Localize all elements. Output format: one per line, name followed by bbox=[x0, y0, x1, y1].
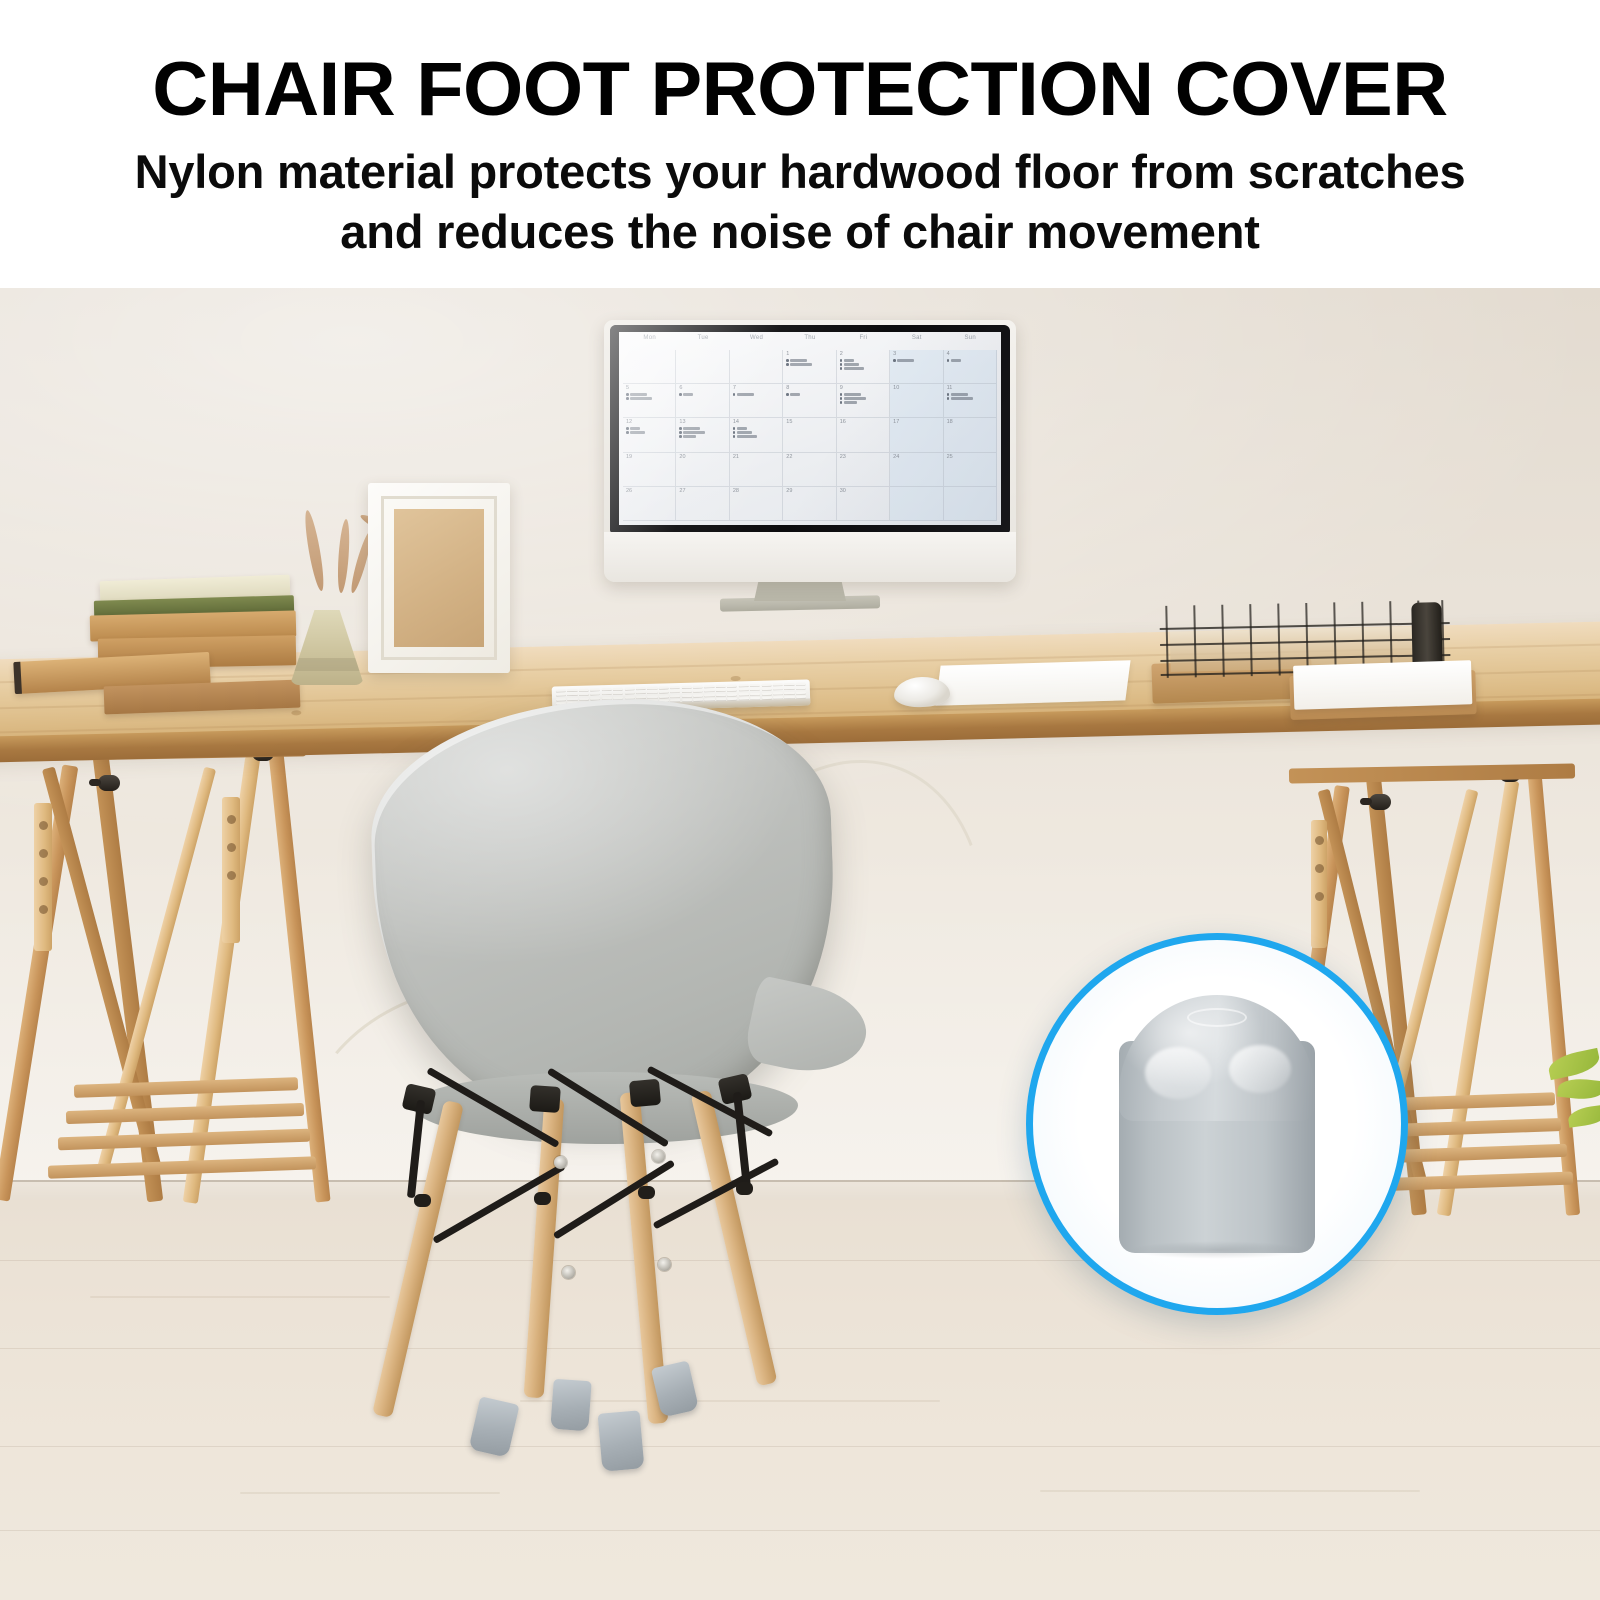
calendar-cell: 4 bbox=[944, 350, 997, 384]
monitor-chin bbox=[604, 532, 1016, 582]
trestle-left bbox=[0, 715, 330, 1235]
calendar-date-number: 11 bbox=[947, 386, 994, 392]
molding-mark bbox=[1187, 1008, 1247, 1027]
calendar-cell: 7 bbox=[730, 384, 783, 418]
calendar-date-number: 14 bbox=[733, 420, 780, 426]
calendar-cell: 28 bbox=[730, 487, 783, 521]
calendar-date-number: 21 bbox=[733, 455, 780, 461]
calendar-cell: 25 bbox=[944, 453, 997, 487]
calendar-day-header: Wed bbox=[730, 335, 783, 350]
calendar-date-number: 8 bbox=[786, 386, 833, 392]
calendar-event bbox=[840, 359, 887, 362]
height-adjust-knob bbox=[1369, 794, 1391, 810]
calendar-cell: 2 bbox=[837, 350, 890, 384]
keyboard-key bbox=[784, 683, 794, 686]
keyboard-key bbox=[556, 689, 566, 692]
keyboard-key bbox=[750, 684, 760, 687]
keyboard-key bbox=[795, 683, 805, 686]
calendar-event bbox=[840, 401, 887, 404]
calendar-event bbox=[626, 393, 673, 396]
calendar-cell: 3 bbox=[890, 350, 943, 384]
calendar-event bbox=[840, 367, 887, 370]
keyboard-key bbox=[796, 691, 806, 694]
keyboard-key bbox=[704, 689, 714, 692]
calendar-cell: 11 bbox=[944, 384, 997, 418]
calendar-event bbox=[786, 359, 833, 362]
keyboard-key bbox=[647, 687, 657, 690]
keyboard-key bbox=[659, 695, 669, 698]
calendar-date-number: 3 bbox=[893, 352, 940, 358]
leg-screw bbox=[658, 1258, 671, 1271]
monitor-screen: MonTueWedThuFriSatSun 123456789101112131… bbox=[619, 332, 1001, 525]
keyboard-key bbox=[761, 688, 771, 691]
calendar-day-header: Fri bbox=[837, 335, 890, 350]
keyboard-key bbox=[681, 686, 691, 689]
keyboard-key bbox=[590, 688, 600, 691]
keyboard-key bbox=[647, 695, 657, 698]
calendar-date-number: 20 bbox=[679, 455, 726, 461]
product-closeup-inset bbox=[1026, 933, 1408, 1315]
calendar-cell: 5 bbox=[623, 384, 676, 418]
keyboard-key bbox=[624, 692, 634, 695]
calendar-event bbox=[840, 393, 887, 396]
keyboard-key bbox=[579, 693, 589, 696]
calendar-event bbox=[679, 427, 726, 430]
product-marketing-image: CHAIR FOOT PROTECTION COVER Nylon materi… bbox=[0, 0, 1600, 1600]
calendar-cell: 14 bbox=[730, 418, 783, 452]
calendar-cell: 23 bbox=[837, 453, 890, 487]
keyboard-key bbox=[567, 693, 577, 696]
calendar-cell: 17 bbox=[890, 418, 943, 452]
calendar-event bbox=[733, 393, 780, 396]
keyboard-key bbox=[716, 689, 726, 692]
keyboard-key bbox=[693, 694, 703, 697]
keyboard-key bbox=[739, 693, 749, 696]
keyboard-key bbox=[556, 694, 566, 697]
keyboard-key bbox=[601, 688, 611, 691]
calendar-cell: 12 bbox=[623, 418, 676, 452]
height-adjust-knob bbox=[98, 775, 120, 791]
keyboard-key bbox=[784, 691, 794, 694]
keyboard-key bbox=[761, 683, 771, 686]
pens bbox=[1411, 602, 1442, 669]
keyboard-key bbox=[738, 684, 748, 687]
calendar-cell: 19 bbox=[623, 453, 676, 487]
calendar-event bbox=[786, 363, 833, 366]
calendar-cell: 15 bbox=[783, 418, 836, 452]
calendar-event bbox=[786, 393, 833, 396]
calendar-cell: 6 bbox=[676, 384, 729, 418]
calendar-date-number: 16 bbox=[840, 420, 887, 426]
keyboard-key bbox=[704, 685, 714, 688]
calendar-cell: 8 bbox=[783, 384, 836, 418]
chair-foot-cap bbox=[598, 1410, 645, 1471]
calendar-event bbox=[840, 363, 887, 366]
keyboard-key bbox=[658, 686, 668, 689]
keyboard-key bbox=[693, 690, 703, 693]
calendar-cell: 26 bbox=[623, 487, 676, 521]
calendar-day-header: Thu bbox=[783, 335, 836, 350]
calendar-event bbox=[733, 431, 780, 434]
page-title: CHAIR FOOT PROTECTION COVER bbox=[0, 46, 1600, 133]
keyboard-key bbox=[716, 693, 726, 696]
keyboard-key bbox=[682, 694, 692, 697]
calendar-event bbox=[893, 359, 940, 362]
keyboard-key bbox=[773, 692, 783, 695]
base-wire bbox=[407, 1100, 425, 1198]
calendar-cell bbox=[944, 487, 997, 521]
calendar-cell bbox=[623, 350, 676, 384]
keyboard-key bbox=[636, 691, 646, 694]
keyboard-key bbox=[670, 686, 680, 689]
monitor-bezel: MonTueWedThuFriSatSun 123456789101112131… bbox=[610, 325, 1010, 533]
calendar-cell: 21 bbox=[730, 453, 783, 487]
keyboard-key bbox=[670, 690, 680, 693]
computer-monitor: MonTueWedThuFriSatSun 123456789101112131… bbox=[604, 320, 1016, 582]
calendar-day-header: Mon bbox=[623, 335, 676, 350]
calendar-cell: 18 bbox=[944, 418, 997, 452]
keyboard-key bbox=[613, 688, 623, 691]
calendar-cell: 13 bbox=[676, 418, 729, 452]
calendar-date-number: 26 bbox=[626, 489, 673, 495]
keyboard-key bbox=[693, 685, 703, 688]
keyboard-key bbox=[716, 685, 726, 688]
calendar-event bbox=[947, 393, 994, 396]
picture-frame bbox=[368, 483, 510, 673]
calendar-cell bbox=[676, 350, 729, 384]
chair-foot-cap bbox=[468, 1396, 519, 1458]
calendar-date-number: 15 bbox=[786, 420, 833, 426]
chair-foot-cap bbox=[550, 1379, 591, 1432]
calendar-date-number: 12 bbox=[626, 420, 673, 426]
calendar-event bbox=[733, 435, 780, 438]
calendar-date-number: 7 bbox=[733, 386, 780, 392]
plant bbox=[1514, 1045, 1600, 1165]
calendar-day-headers: MonTueWedThuFriSatSun bbox=[623, 335, 997, 350]
lifestyle-photo: MonTueWedThuFriSatSun 123456789101112131… bbox=[0, 285, 1600, 1600]
product-cap bbox=[1119, 995, 1315, 1253]
leg-screw bbox=[652, 1150, 665, 1163]
keyboard-key bbox=[590, 693, 600, 696]
calendar-date-number: 6 bbox=[679, 386, 726, 392]
keyboard-key bbox=[727, 689, 737, 692]
calendar-date-number: 23 bbox=[840, 455, 887, 461]
keyboard-key bbox=[636, 687, 646, 690]
calendar-cell: 9 bbox=[837, 384, 890, 418]
calendar-date-number: 1 bbox=[786, 352, 833, 358]
keyboard-key bbox=[624, 687, 634, 690]
keyboard-key bbox=[784, 687, 794, 690]
calendar-date-number: 29 bbox=[786, 489, 833, 495]
chair-armrest-wing bbox=[742, 975, 873, 1083]
calendar-date-number: 28 bbox=[733, 489, 780, 495]
calendar-date-number: 25 bbox=[947, 455, 994, 461]
calendar-date-number: 24 bbox=[893, 455, 940, 461]
keyboard-key bbox=[750, 688, 760, 691]
calendar-date-number: 5 bbox=[626, 386, 673, 392]
keyboard-key bbox=[613, 692, 623, 695]
paper-sheet bbox=[935, 660, 1130, 705]
calendar-date-number: 13 bbox=[679, 420, 726, 426]
keyboard-key bbox=[567, 689, 577, 692]
calendar-event bbox=[679, 435, 726, 438]
calendar-event bbox=[626, 397, 673, 400]
calendar-date-number: 2 bbox=[840, 352, 887, 358]
keyboard-key bbox=[647, 691, 657, 694]
calendar-cell: 27 bbox=[676, 487, 729, 521]
calendar-date-number: 27 bbox=[679, 489, 726, 495]
calendar-cell: 29 bbox=[783, 487, 836, 521]
calendar-cell: 22 bbox=[783, 453, 836, 487]
clipboard bbox=[1289, 670, 1476, 720]
leg-screw bbox=[554, 1156, 567, 1169]
keyboard-key bbox=[796, 687, 806, 690]
calendar-event bbox=[947, 359, 994, 362]
keyboard-key bbox=[750, 692, 760, 695]
calendar-day-header: Sat bbox=[890, 335, 943, 350]
calendar-cell: 24 bbox=[890, 453, 943, 487]
keyboard-key bbox=[761, 692, 771, 695]
keyboard-key bbox=[579, 689, 589, 692]
calendar-date-number: 18 bbox=[947, 420, 994, 426]
keyboard-key bbox=[704, 694, 714, 697]
calendar-event bbox=[679, 431, 726, 434]
leg-screw bbox=[562, 1266, 575, 1279]
calendar-cell: 30 bbox=[837, 487, 890, 521]
page-subtitle: Nylon material protects your hardwood fl… bbox=[90, 142, 1510, 262]
calendar-cell: 16 bbox=[837, 418, 890, 452]
calendar-date-number: 19 bbox=[626, 455, 673, 461]
keyboard-key bbox=[727, 684, 737, 687]
calendar-date-number: 17 bbox=[893, 420, 940, 426]
calendar-event bbox=[679, 393, 726, 396]
calendar-app: MonTueWedThuFriSatSun 123456789101112131… bbox=[619, 332, 1001, 525]
calendar-cell: 20 bbox=[676, 453, 729, 487]
calendar-date-number: 10 bbox=[893, 386, 940, 392]
calendar-event bbox=[626, 427, 673, 430]
keyboard-key bbox=[773, 687, 783, 690]
calendar-date-number: 22 bbox=[786, 455, 833, 461]
keyboard-key bbox=[681, 690, 691, 693]
calendar-grid: 1234567891011121314151617181920212223242… bbox=[623, 350, 997, 521]
leg-mount bbox=[529, 1085, 561, 1113]
calendar-date-number: 4 bbox=[947, 352, 994, 358]
keyboard-key bbox=[738, 688, 748, 691]
header-banner: CHAIR FOOT PROTECTION COVER Nylon materi… bbox=[0, 0, 1600, 288]
calendar-date-number: 9 bbox=[840, 386, 887, 392]
leg-mount bbox=[629, 1079, 661, 1108]
calendar-cell: 1 bbox=[783, 350, 836, 384]
keyboard-key bbox=[602, 692, 612, 695]
calendar-event bbox=[840, 397, 887, 400]
calendar-date-number: 30 bbox=[840, 489, 887, 495]
calendar-event bbox=[626, 431, 673, 434]
keyboard-key bbox=[727, 693, 737, 696]
keyboard-key bbox=[773, 683, 783, 686]
keyboard-key bbox=[670, 695, 680, 698]
calendar-cell bbox=[730, 350, 783, 384]
calendar-cell bbox=[890, 487, 943, 521]
calendar-day-header: Sun bbox=[944, 335, 997, 350]
calendar-event bbox=[947, 397, 994, 400]
chair bbox=[352, 700, 872, 1460]
keyboard-key bbox=[659, 691, 669, 694]
calendar-day-header: Tue bbox=[676, 335, 729, 350]
calendar-event bbox=[733, 427, 780, 430]
calendar-cell: 10 bbox=[890, 384, 943, 418]
